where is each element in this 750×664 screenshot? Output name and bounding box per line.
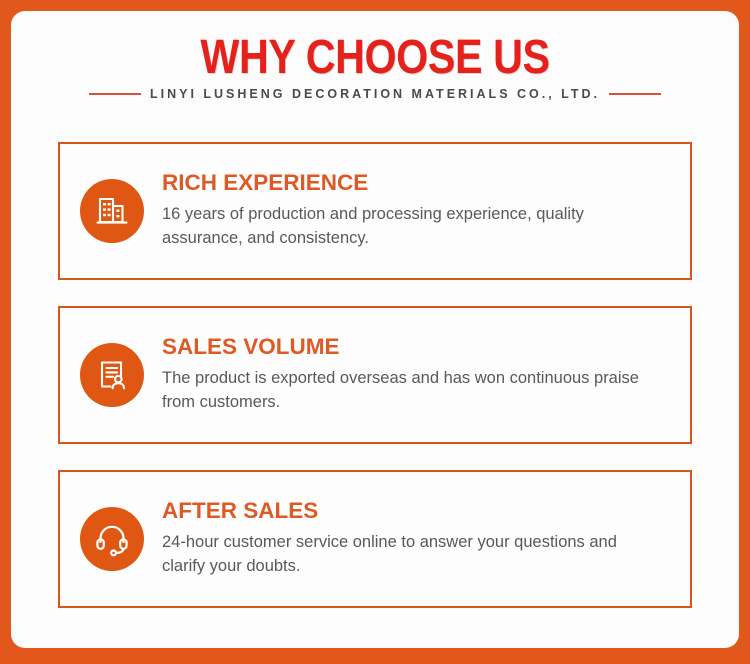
feature-card-body: 24-hour customer service online to answe… [162, 530, 662, 578]
feature-card-text: RICH EXPERIENCE 16 years of production a… [162, 170, 690, 250]
headset-icon [80, 507, 144, 571]
company-subtitle-row: LINYI LUSHENG DECORATION MATERIALS CO., … [11, 87, 739, 101]
office-buildings-icon [80, 179, 144, 243]
feature-card-rich-experience[interactable]: RICH EXPERIENCE 16 years of production a… [58, 142, 692, 280]
company-name: LINYI LUSHENG DECORATION MATERIALS CO., … [150, 87, 600, 101]
feature-card-sales-volume[interactable]: SALES VOLUME The product is exported ove… [58, 306, 692, 444]
header: WHY CHOOSE US [11, 33, 739, 83]
feature-card-heading: SALES VOLUME [162, 334, 674, 360]
rule-right-decoration [609, 93, 661, 95]
feature-card-heading: AFTER SALES [162, 498, 674, 524]
feature-card-list: RICH EXPERIENCE 16 years of production a… [58, 142, 692, 608]
feature-card-text: SALES VOLUME The product is exported ove… [162, 334, 690, 414]
orange-frame: WHY CHOOSE US LINYI LUSHENG DECORATION M… [0, 0, 750, 664]
document-person-icon [80, 343, 144, 407]
feature-card-body: 16 years of production and processing ex… [162, 202, 662, 250]
feature-card-body: The product is exported overseas and has… [162, 366, 662, 414]
page-title: WHY CHOOSE US [62, 33, 688, 83]
feature-card-text: AFTER SALES 24-hour customer service onl… [162, 498, 690, 578]
feature-card-heading: RICH EXPERIENCE [162, 170, 674, 196]
content-panel: WHY CHOOSE US LINYI LUSHENG DECORATION M… [11, 11, 739, 648]
feature-card-after-sales[interactable]: AFTER SALES 24-hour customer service onl… [58, 470, 692, 608]
rule-left-decoration [89, 93, 141, 95]
